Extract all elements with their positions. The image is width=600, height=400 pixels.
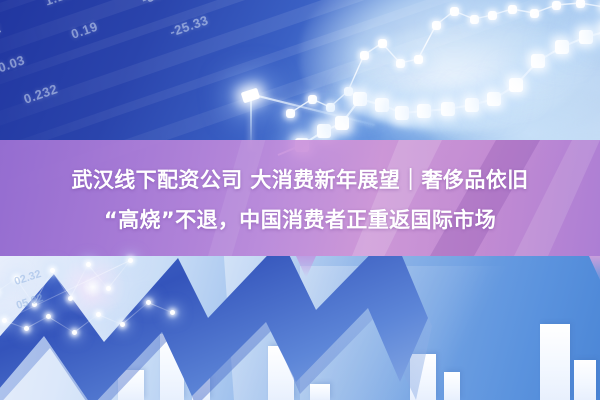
lens-flare-glow [58,252,128,322]
chart-node [488,11,497,20]
headline-text: 武汉线下配资公司 大消费新年展望｜奢侈品依旧 “高烧”不退，中国消费者正重返国际… [0,160,600,240]
chart-node [465,98,479,112]
chart-node [317,124,331,138]
chart-node [432,21,441,30]
chart-node [286,109,295,118]
chart-node [531,54,545,68]
chart-node [360,51,369,60]
chart-node [530,9,539,18]
chart-node [441,102,455,116]
chart-node [579,30,593,44]
chart-node [335,116,349,130]
chart-node [487,92,501,106]
headline-line-2: “高烧”不退，中国消费者正重返国际市场 [0,200,600,240]
news-banner-image: -50.021.25-11.25-02.3621.00-11.252.25-50… [0,0,600,400]
chart-node [509,78,523,92]
chart-node [414,55,423,64]
chart-node [378,39,387,48]
chart-node [552,1,561,10]
chart-node [417,104,431,118]
chart-node [375,98,389,112]
chart-node [395,106,409,120]
chart-node [396,59,405,68]
headline-line-1: 武汉线下配资公司 大消费新年展望｜奢侈品依旧 [0,160,600,200]
chart-node [508,5,517,14]
chart-line-upper-line [290,3,600,113]
chart-node [326,103,335,112]
chart-node [555,40,569,54]
chart-node [450,7,459,16]
chart-node [344,87,353,96]
chart-node [470,15,479,24]
chart-node [308,95,317,104]
chart-node [353,92,367,106]
chart-node [576,0,585,8]
